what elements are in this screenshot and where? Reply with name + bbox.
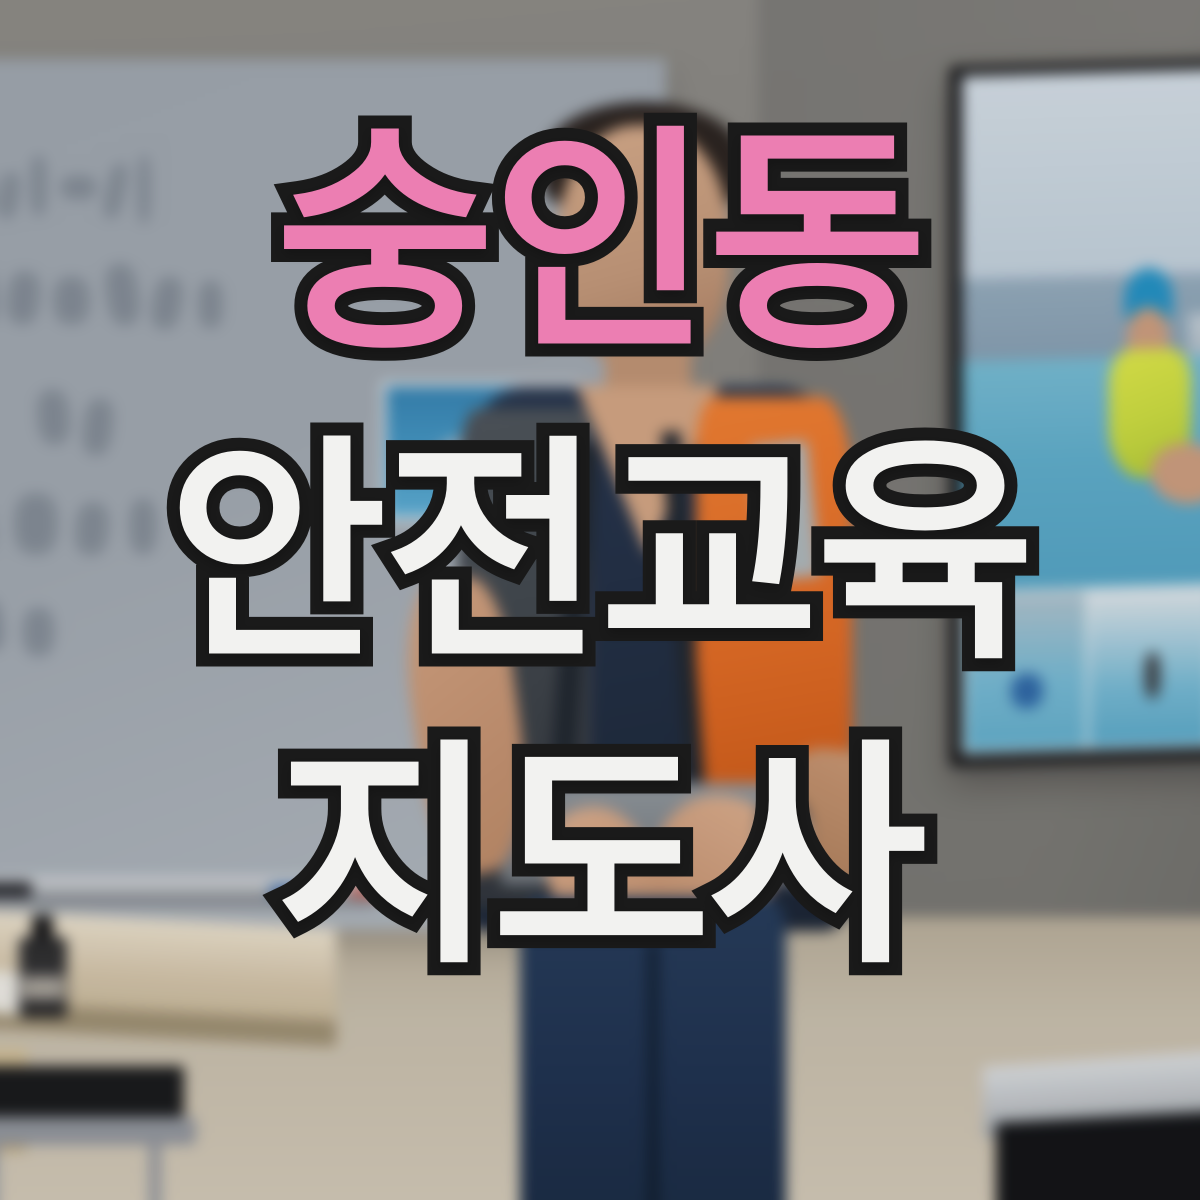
- table-right-underside: [996, 1107, 1200, 1200]
- wrist-watch: [757, 795, 809, 874]
- background-photo: [0, 0, 1200, 1200]
- screen-thumbnail: [1089, 588, 1200, 748]
- projector-screen: [962, 66, 1200, 754]
- projector-screen-frame: [950, 56, 1200, 767]
- head: [558, 125, 729, 363]
- title-card: 숭인동 안전교육 지도사: [0, 0, 1200, 1200]
- marker-red: [349, 886, 389, 897]
- bottle: [19, 937, 67, 1019]
- presenter: [415, 125, 890, 1200]
- chair: [0, 1049, 230, 1200]
- marker-black: [0, 882, 32, 897]
- screen-thumbnail: [965, 591, 1086, 751]
- screen-thumbnail-strip: [962, 581, 1200, 754]
- marker-blue: [270, 885, 325, 897]
